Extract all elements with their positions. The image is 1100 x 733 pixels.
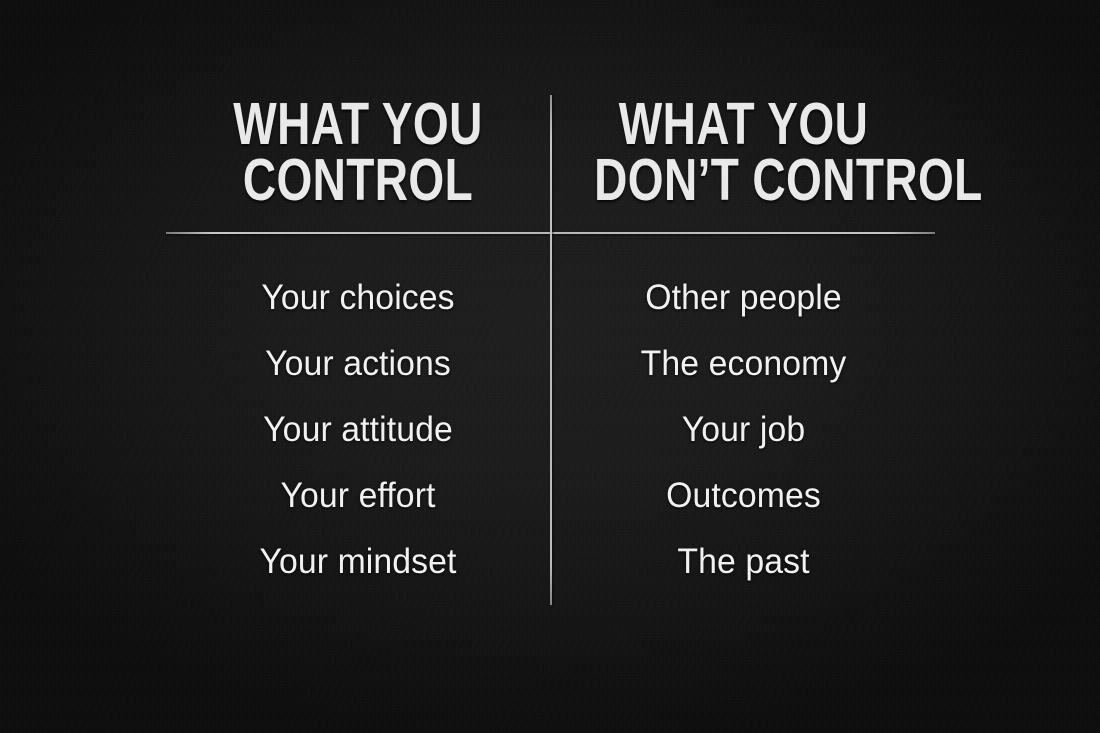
column-dont-control-heading-line2: DON’T CONTROL (594, 152, 893, 208)
list-item: Your attitude (173, 397, 544, 463)
list-item: The past (559, 529, 929, 595)
list-item: Your effort (173, 463, 544, 529)
list-item: Outcomes (559, 463, 929, 529)
column-dont-control: WHAT YOU DON’T CONTROL Other people The … (552, 0, 935, 733)
poster-canvas: WHAT YOU CONTROL Your choices Your actio… (0, 0, 1100, 733)
list-item: Your actions (173, 331, 544, 397)
list-item: Your choices (173, 265, 544, 331)
column-dont-control-list: Other people The economy Your job Outcom… (552, 265, 935, 595)
column-control-list: Your choices Your actions Your attitude … (166, 265, 550, 595)
list-item: Other people (559, 265, 929, 331)
column-dont-control-heading-line1: WHAT YOU (594, 96, 893, 152)
list-item: Your mindset (173, 529, 544, 595)
column-dont-control-heading: WHAT YOU DON’T CONTROL (594, 96, 893, 208)
column-control-heading-line2: CONTROL (208, 152, 508, 208)
column-control-heading-line1: WHAT YOU (208, 96, 508, 152)
list-item: Your job (559, 397, 929, 463)
list-item: The economy (559, 331, 929, 397)
column-control-heading: WHAT YOU CONTROL (208, 96, 508, 208)
column-control: WHAT YOU CONTROL Your choices Your actio… (166, 0, 550, 733)
